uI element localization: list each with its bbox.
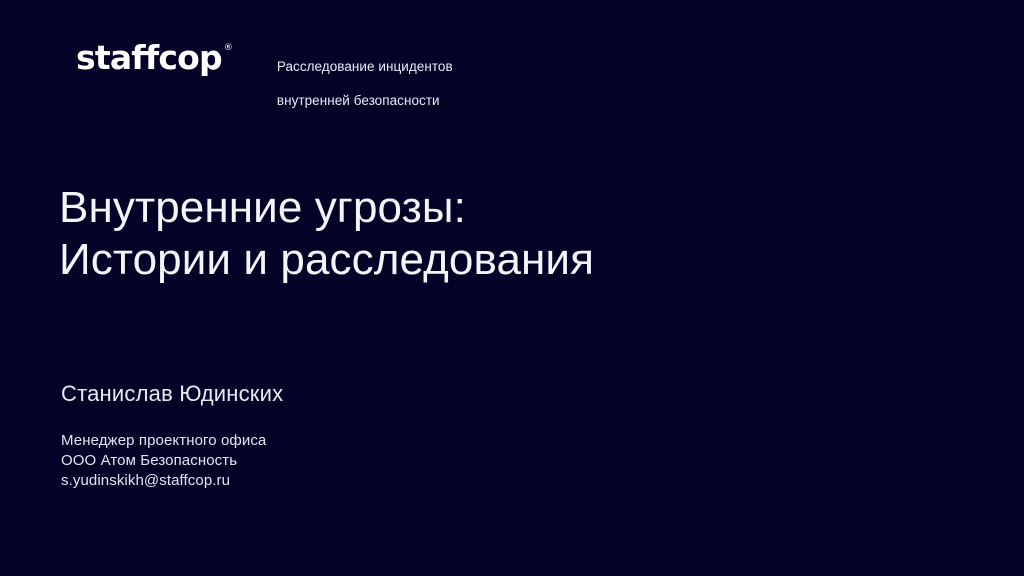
brand-tagline: Расследование инцидентов внутренней безо… (277, 41, 453, 126)
logo-wordmark: staffcop (76, 38, 222, 78)
page-title-line-1: Внутренние угрозы: (59, 182, 594, 234)
presenter-contact-block: Менеджер проектного офиса ООО Атом Безоп… (61, 431, 266, 491)
title-slide: staffcop ® Расследование инцидентов внут… (0, 0, 1024, 576)
presenter-company: ООО Атом Безопасность (61, 451, 266, 471)
brand-tagline-line-1: Расследование инцидентов (277, 58, 453, 75)
presenter-role: Менеджер проектного офиса (61, 431, 266, 451)
presenter-email: s.yudinskikh@staffcop.ru (61, 471, 266, 491)
registered-trademark-icon: ® (224, 44, 233, 53)
page-title: Внутренние угрозы: Истории и расследован… (59, 182, 594, 286)
brand-tagline-line-2: внутренней безопасности (277, 92, 453, 109)
page-title-line-2: Истории и расследования (59, 234, 594, 286)
staffcop-logo: staffcop ® (76, 38, 233, 78)
brand-header: staffcop ® Расследование инцидентов внут… (76, 38, 453, 126)
presenter-block: Станислав Юдинских (61, 380, 283, 408)
presenter-name: Станислав Юдинских (61, 380, 283, 408)
